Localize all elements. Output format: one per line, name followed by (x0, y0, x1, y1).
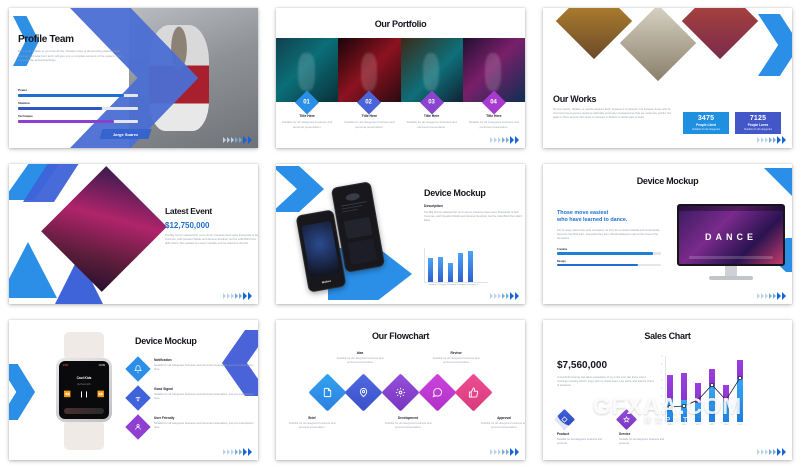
works-photo-diamond (682, 8, 758, 59)
chat-bubble-icon[interactable] (418, 373, 456, 411)
page-title: Profile Team (18, 34, 138, 45)
chart-y-tick: 3 (661, 404, 662, 406)
previous-track-icon[interactable]: ⏪ (63, 391, 70, 398)
chevron-icon (782, 448, 786, 456)
flow-step-title: Approval (476, 416, 525, 420)
chart-x-label: 2014 (667, 424, 673, 426)
feature-item-notification: Notification Suitable for all categories… (129, 358, 258, 378)
chart-bar-segment-service (723, 385, 729, 401)
chevron-icon (490, 449, 493, 455)
skill-label-creative: Creative (557, 248, 661, 251)
slide-our-works[interactable]: Our Works No one rejects, dislikes, or a… (543, 8, 792, 148)
chevron-icon (502, 449, 505, 455)
chevron-icon (231, 137, 234, 143)
flow-step-desc: Suitable for all categories business and… (428, 357, 484, 365)
slide-cell-9: Sales Chart $7,560,000 A wonderful seren… (534, 312, 800, 468)
slide-device-mockup-watch[interactable]: 24% 10:09 Cool Kids Echosmith ⏪ ❙❙ ⏩ (9, 320, 258, 460)
sales-amount: $7,560,000 (557, 360, 655, 371)
watch-feature-list: Notification Suitable for all categories… (129, 358, 258, 436)
chevron-icon (239, 449, 242, 455)
event-body-text: The Big Oxmox advised her not to do so, … (165, 234, 258, 247)
chevron-icon (777, 448, 781, 456)
portfolio-captions: Title Here Suitable for all categories b… (276, 114, 525, 129)
flow-caption-development: Development Suitable for all categories … (380, 416, 436, 430)
phone-card (344, 217, 373, 239)
portfolio-caption-title: Title Here (405, 114, 459, 118)
blue-chevron-decoration (276, 166, 324, 212)
star-icon (616, 409, 637, 430)
phone-text-lines (341, 201, 368, 213)
page-title: Our Portfolio (276, 19, 525, 29)
portfolio-number-badge: 01 (295, 91, 319, 115)
chevron-icon (773, 449, 776, 455)
portfolio-caption: Title Here Suitable for all categories b… (276, 114, 338, 129)
phone-card (348, 239, 377, 265)
phone-screen-art (301, 221, 340, 277)
description-body: The Big Oxmox advised her not to do so, … (424, 211, 525, 224)
portfolio-number: 03 (428, 100, 435, 106)
flow-step-title: Development (380, 416, 436, 420)
chevron-icon (510, 448, 514, 456)
portfolio-caption-title: Title Here (467, 114, 521, 118)
chevron-icon (506, 293, 509, 299)
stat-card-people-loves: 7125 People Loves Suitable for all categ… (735, 112, 781, 134)
stat-value: 7125 (735, 115, 781, 122)
chart-category-label: Category 3 (448, 284, 453, 286)
portfolio-image-strip: 01 02 03 04 (276, 38, 525, 102)
chart-bar-segment-service (695, 383, 701, 403)
chart-y-tick-labels: 9 8 7 6 5 4 3 2 1 (661, 356, 662, 422)
stat-card-people-liked: 3475 People Liked Suitable for all categ… (683, 112, 729, 134)
chart-bar (448, 263, 453, 282)
chart-bar-segment-product (681, 400, 687, 422)
skill-track-technique (18, 120, 138, 123)
flow-step-desc: Suitable for all categories business and… (284, 422, 340, 430)
skill-fill-creative (557, 252, 653, 254)
portfolio-number-badge: 02 (357, 91, 381, 115)
portfolio-caption-desc: Suitable for all categories business and… (467, 120, 521, 129)
stat-label: People Liked (683, 123, 729, 127)
chevron-icon (765, 137, 768, 143)
chevron-icon (782, 136, 786, 144)
chevron-icon (515, 136, 519, 144)
corner-chevrons (490, 292, 519, 300)
stat-value: 3475 (683, 115, 729, 122)
phone-avatar (345, 192, 360, 201)
watch-band-top (64, 332, 104, 360)
flow-step-title: Idea (332, 351, 388, 355)
corner-chevrons (223, 136, 252, 144)
skill-row-design: Design (557, 260, 661, 267)
chart-category-label: Category 2 (438, 284, 443, 286)
watch-playback-controls[interactable]: ⏪ ❙❙ ⏩ (59, 391, 109, 398)
chart-bar-segment-product (695, 403, 701, 422)
monitor-mockup: DANCE (677, 204, 785, 280)
chevron-icon (235, 137, 238, 143)
chart-bar (468, 251, 473, 282)
monitor-body-text: Far far away, behind the word mountains,… (557, 229, 661, 241)
chart-y-tick: 6 (661, 380, 662, 382)
chart-bar-segment-product (709, 386, 715, 422)
feature-item-user-friendly: User Friendly Suitable for all categorie… (129, 416, 258, 436)
flow-caption-approval: Approval Suitable for all categories bus… (476, 416, 525, 430)
chevron-icon (494, 449, 497, 455)
chart-bar-2014 (667, 374, 673, 422)
page-title: Device Mockup (424, 188, 525, 198)
portfolio-number-badge: 03 (420, 91, 444, 115)
monitor-screen: DANCE (677, 204, 785, 266)
slide-cell-2: Our Portfolio 01 02 03 (267, 0, 534, 156)
chevron-icon (757, 293, 760, 299)
page-title: Device Mockup (543, 176, 792, 186)
watch-time: 10:09 (99, 364, 106, 367)
slide-cell-8: Our Flowchart › › › › (267, 312, 534, 468)
chevron-icon (227, 449, 230, 455)
page-title: Sales Chart (543, 331, 792, 341)
corner-chevrons (757, 292, 786, 300)
chevron-icon (239, 293, 242, 299)
chevron-icon (235, 293, 238, 299)
chevron-icon (782, 292, 786, 300)
chevron-icon (502, 137, 505, 143)
feature-title: Notification (154, 358, 258, 362)
chart-bar-2019 (737, 360, 743, 422)
skill-row-power: Power (18, 88, 138, 97)
watch-volume-slider[interactable] (64, 408, 104, 414)
chart-bar (428, 258, 433, 282)
chart-bar-segment-product (737, 379, 743, 422)
skill-label-power: Power (18, 88, 138, 92)
works-body-text: No one rejects, dislikes, or avoids plea… (553, 108, 673, 121)
slide-cell-3: Our Works No one rejects, dislikes, or a… (534, 0, 800, 156)
legend-title: Product (557, 432, 603, 436)
slide-device-mockup-phone[interactable]: Modern Device Mockup Description The Big… (276, 164, 525, 304)
chevron-icon (761, 293, 764, 299)
chart-x-label: 2016 (695, 424, 701, 426)
gear-icon[interactable] (381, 373, 419, 411)
corner-chevrons (757, 136, 786, 144)
chart-y-tick: 9 (661, 356, 662, 358)
chevron-icon (231, 449, 234, 455)
event-amount: $12,750,000 (165, 221, 258, 230)
watch-battery: 24% (63, 364, 68, 367)
bell-icon (125, 356, 150, 381)
chart-y-tick: 8 (661, 364, 662, 366)
bar-chart: Category 1 Category 2 Category 3 Categor… (428, 248, 473, 286)
skill-track-stamina (18, 107, 138, 110)
skill-row-creative: Creative (557, 248, 661, 255)
chevron-icon (243, 136, 247, 144)
skill-track-design (557, 264, 661, 266)
chart-bar-segment-service (681, 373, 687, 401)
chart-bar-segment-service (667, 375, 673, 399)
feature-title: Good Signal (154, 387, 258, 391)
portfolio-caption-desc: Suitable for all categories business and… (280, 120, 334, 129)
diamond-icon (554, 409, 575, 430)
monitor-progress (689, 256, 772, 259)
document-icon[interactable] (308, 373, 346, 411)
profile-body-text: But I must explain to you how all the mi… (18, 49, 130, 63)
chevron-icon (490, 293, 493, 299)
slide-cell-5: Modern Device Mockup Description The Big… (267, 156, 534, 312)
slide-cell-4: Latest Event $12,750,000 The Big Oxmox a… (0, 156, 267, 312)
chevron-icon (761, 137, 764, 143)
name-tag: Jorge Suarez (100, 129, 152, 139)
chevron-icon (231, 293, 234, 299)
legend-title: Service (619, 432, 665, 436)
feature-item-good-signal: Good Signal Suitable for all categories … (129, 387, 258, 407)
page-title: Device Mockup (135, 336, 253, 346)
feature-desc: Suitable for all categories business and… (154, 422, 258, 430)
chart-category-label: Category 5 (468, 284, 473, 286)
chart-x-label: 2019 (737, 424, 743, 426)
chevron-icon (506, 137, 509, 143)
blue-chevron-decoration (9, 364, 35, 420)
portfolio-image: 03 (401, 38, 463, 102)
skill-fill-power (18, 94, 124, 97)
chevron-icon (515, 448, 519, 456)
blue-x-decoration (9, 242, 57, 298)
chevron-icon (248, 136, 252, 144)
chart-category-label: Category 1 (428, 284, 433, 286)
watch-screen: 24% 10:09 Cool Kids Echosmith ⏪ ❙❙ ⏩ (59, 361, 109, 419)
chart-y-axis (665, 356, 666, 422)
pause-icon[interactable]: ❙❙ (79, 391, 89, 398)
phone-screen-label: Modern (308, 277, 344, 286)
chevron-icon (248, 292, 252, 300)
portfolio-caption: Title Here Suitable for all categories b… (463, 114, 525, 129)
slide-sales-chart[interactable]: Sales Chart $7,560,000 A wonderful seren… (543, 320, 792, 460)
chevron-icon (757, 449, 760, 455)
skill-row-stamina: Stamina (18, 101, 138, 110)
skill-label-stamina: Stamina (18, 101, 138, 105)
flow-caption-brief: Brief Suitable for all categories busine… (284, 416, 340, 430)
chevron-icon (506, 449, 509, 455)
legend-item-service: Service Suitable for all categories busi… (619, 412, 665, 446)
chevron-icon (223, 137, 226, 143)
chart-x-axis (424, 282, 488, 283)
legend-desc: Suitable for all categories business and… (557, 438, 603, 446)
chevron-icon (777, 292, 781, 300)
portfolio-caption-title: Title Here (280, 114, 334, 118)
flow-caption-review: Review Suitable for all categories busin… (428, 351, 484, 365)
page-title: Our Flowchart (276, 331, 525, 341)
skill-track-creative (557, 252, 661, 254)
flowchart-steps: › › › › (276, 379, 525, 406)
page-title: Latest Event (165, 206, 258, 216)
chart-stacked-bars (667, 356, 743, 422)
flow-step-desc: Suitable for all categories business and… (476, 422, 525, 430)
skill-track-power (18, 94, 138, 97)
watch-track-artist: Echosmith (59, 382, 109, 386)
chart-legend: Product Suitable for all categories busi… (557, 412, 665, 446)
watch-track-title: Cool Kids (59, 376, 109, 380)
user-icon (125, 414, 150, 439)
skill-label-technique: Technique (18, 114, 138, 118)
chevron-icon (515, 292, 519, 300)
stat-sublabel: Suitable for all categories (735, 128, 781, 131)
portfolio-caption-desc: Suitable for all categories business and… (405, 120, 459, 129)
slide-cell-6: Device Mockup Those move easiest who hav… (534, 156, 800, 312)
headline-line-1: Those move easiest (557, 210, 608, 216)
chart-y-tick: 4 (661, 396, 662, 398)
slide-device-mockup-monitor[interactable]: Device Mockup Those move easiest who hav… (543, 164, 792, 304)
chart-bar-segment-service (737, 360, 743, 379)
chart-x-label: 2018 (723, 424, 729, 426)
corner-chevrons (757, 448, 786, 456)
chevron-icon (243, 292, 247, 300)
chart-bars (428, 248, 473, 282)
blue-chevron-decoration (758, 14, 792, 76)
chevron-icon (498, 449, 501, 455)
flow-step-title: Review (428, 351, 484, 355)
skill-row-technique: Technique (18, 114, 138, 123)
watch-body: 24% 10:09 Cool Kids Echosmith ⏪ ❙❙ ⏩ (56, 358, 112, 422)
thumbs-up-icon[interactable] (455, 373, 493, 411)
slide-latest-event[interactable]: Latest Event $12,750,000 The Big Oxmox a… (9, 164, 258, 304)
corner-chevrons (490, 136, 519, 144)
sales-body-text: A wonderful serenity has taken possessio… (557, 376, 655, 388)
chevron-icon (494, 293, 497, 299)
chart-bar-2017 (709, 369, 715, 422)
feature-title: User Friendly (154, 416, 258, 420)
chevron-icon (227, 293, 230, 299)
portfolio-image: 02 (338, 38, 400, 102)
flow-caption-idea: Idea Suitable for all categories busines… (332, 351, 388, 365)
chevron-icon (765, 449, 768, 455)
chevron-icon (773, 137, 776, 143)
portfolio-number: 04 (491, 100, 498, 106)
chevron-icon (223, 449, 226, 455)
chart-x-label: 2017 (709, 424, 715, 426)
legend-desc: Suitable for all categories business and… (619, 438, 665, 446)
chart-bar-segment-product (667, 399, 673, 422)
chevron-icon (239, 137, 242, 143)
chevron-icon (498, 137, 501, 143)
chevron-icon (510, 292, 514, 300)
chevron-icon (227, 137, 230, 143)
watch-mockup: 24% 10:09 Cool Kids Echosmith ⏪ ❙❙ ⏩ (55, 332, 113, 450)
slide-profile-team[interactable]: Profile Team But I must explain to you h… (9, 8, 258, 148)
stat-label: People Loves (735, 123, 781, 127)
portfolio-number: 02 (366, 100, 373, 106)
chevron-icon (769, 137, 772, 143)
chart-x-labels: 2014 2015 2016 2017 2018 2019 (667, 424, 743, 426)
chevron-icon (235, 449, 238, 455)
portfolio-image: 01 (276, 38, 338, 102)
chart-x-label: 2015 (681, 424, 687, 426)
skill-label-design: Design (557, 260, 661, 263)
headline-line-2: who have learned to dance. (557, 217, 627, 223)
chart-category-labels: Category 1 Category 2 Category 3 Categor… (428, 284, 473, 286)
works-photo-diamond (556, 8, 632, 59)
chart-y-tick: 2 (661, 412, 662, 414)
chart-bar-2015 (681, 373, 687, 423)
chevron-icon (490, 137, 493, 143)
slide-cell-1: Profile Team But I must explain to you h… (0, 0, 267, 156)
monitor-neck (725, 266, 737, 276)
chart-category-label: Category 4 (458, 284, 463, 286)
text-line (342, 209, 358, 213)
skill-fill-technique (18, 120, 114, 123)
chevron-icon (502, 293, 505, 299)
chart-bar (438, 257, 443, 283)
portfolio-caption: Title Here Suitable for all categories b… (401, 114, 463, 129)
slide-cell-7: 24% 10:09 Cool Kids Echosmith ⏪ ❙❙ ⏩ (0, 312, 267, 468)
feature-desc: Suitable for all categories business and… (154, 393, 258, 401)
chart-bar-segment-service (709, 369, 715, 385)
chart-y-tick: 5 (661, 388, 662, 390)
headline: Those move easiest who have learned to d… (557, 210, 661, 225)
watch-band-bottom (64, 420, 104, 450)
chevron-icon (494, 137, 497, 143)
monitor-navbar (679, 206, 783, 211)
chevron-icon (223, 293, 226, 299)
chevron-icon (773, 293, 776, 299)
portfolio-caption-title: Title Here (342, 114, 396, 118)
page-title: Our Works (553, 94, 673, 104)
chevron-icon (510, 136, 514, 144)
feature-desc: Suitable for all categories business and… (154, 364, 258, 372)
legend-item-product: Product Suitable for all categories busi… (557, 412, 603, 446)
portfolio-caption-desc: Suitable for all categories business and… (342, 120, 396, 129)
flow-step-desc: Suitable for all categories business and… (332, 357, 388, 365)
chevron-icon (498, 293, 501, 299)
location-pin-icon[interactable] (345, 373, 383, 411)
corner-chevrons (223, 292, 252, 300)
sales-bar-chart: 9 8 7 6 5 4 3 2 1 (667, 356, 743, 426)
chevron-icon (248, 448, 252, 456)
signal-icon (125, 385, 150, 410)
flow-step-desc: Suitable for all categories business and… (380, 422, 436, 430)
slide-our-portfolio[interactable]: Our Portfolio 01 02 03 (276, 8, 525, 148)
slide-our-flowchart[interactable]: Our Flowchart › › › › (276, 320, 525, 460)
chevron-icon (769, 449, 772, 455)
stat-sublabel: Suitable for all categories (683, 128, 729, 131)
chevron-icon (761, 449, 764, 455)
portfolio-image: 04 (463, 38, 525, 102)
chart-y-tick: 7 (661, 372, 662, 374)
chevron-icon (757, 137, 760, 143)
slide-grid: Profile Team But I must explain to you h… (0, 0, 800, 469)
portfolio-caption: Title Here Suitable for all categories b… (338, 114, 400, 129)
chart-bar-2016 (695, 383, 701, 422)
corner-chevrons (490, 448, 519, 456)
skill-fill-stamina (18, 107, 102, 110)
monitor-screen-text: DANCE (679, 232, 783, 242)
monitor-base (709, 276, 753, 280)
next-track-icon[interactable]: ⏩ (97, 391, 104, 398)
chart-y-tick: 1 (661, 420, 662, 422)
chart-bar (458, 253, 463, 282)
name-tag-label: Jorge Suarez (113, 132, 138, 137)
chart-y-axis (424, 248, 425, 282)
skill-fill-design (557, 264, 638, 266)
corner-chevrons (223, 448, 252, 456)
chevron-icon (769, 293, 772, 299)
works-stats: 3475 People Liked Suitable for all categ… (683, 112, 781, 134)
chevron-icon (777, 136, 781, 144)
portfolio-number: 01 (304, 100, 311, 106)
chart-bar-2018 (723, 385, 729, 422)
chevron-icon (243, 448, 247, 456)
portfolio-number-badge: 04 (482, 91, 506, 115)
chevron-icon (765, 293, 768, 299)
chart-bar-segment-product (723, 401, 729, 422)
description-heading: Description (424, 204, 525, 208)
flow-step-title: Brief (284, 416, 340, 420)
